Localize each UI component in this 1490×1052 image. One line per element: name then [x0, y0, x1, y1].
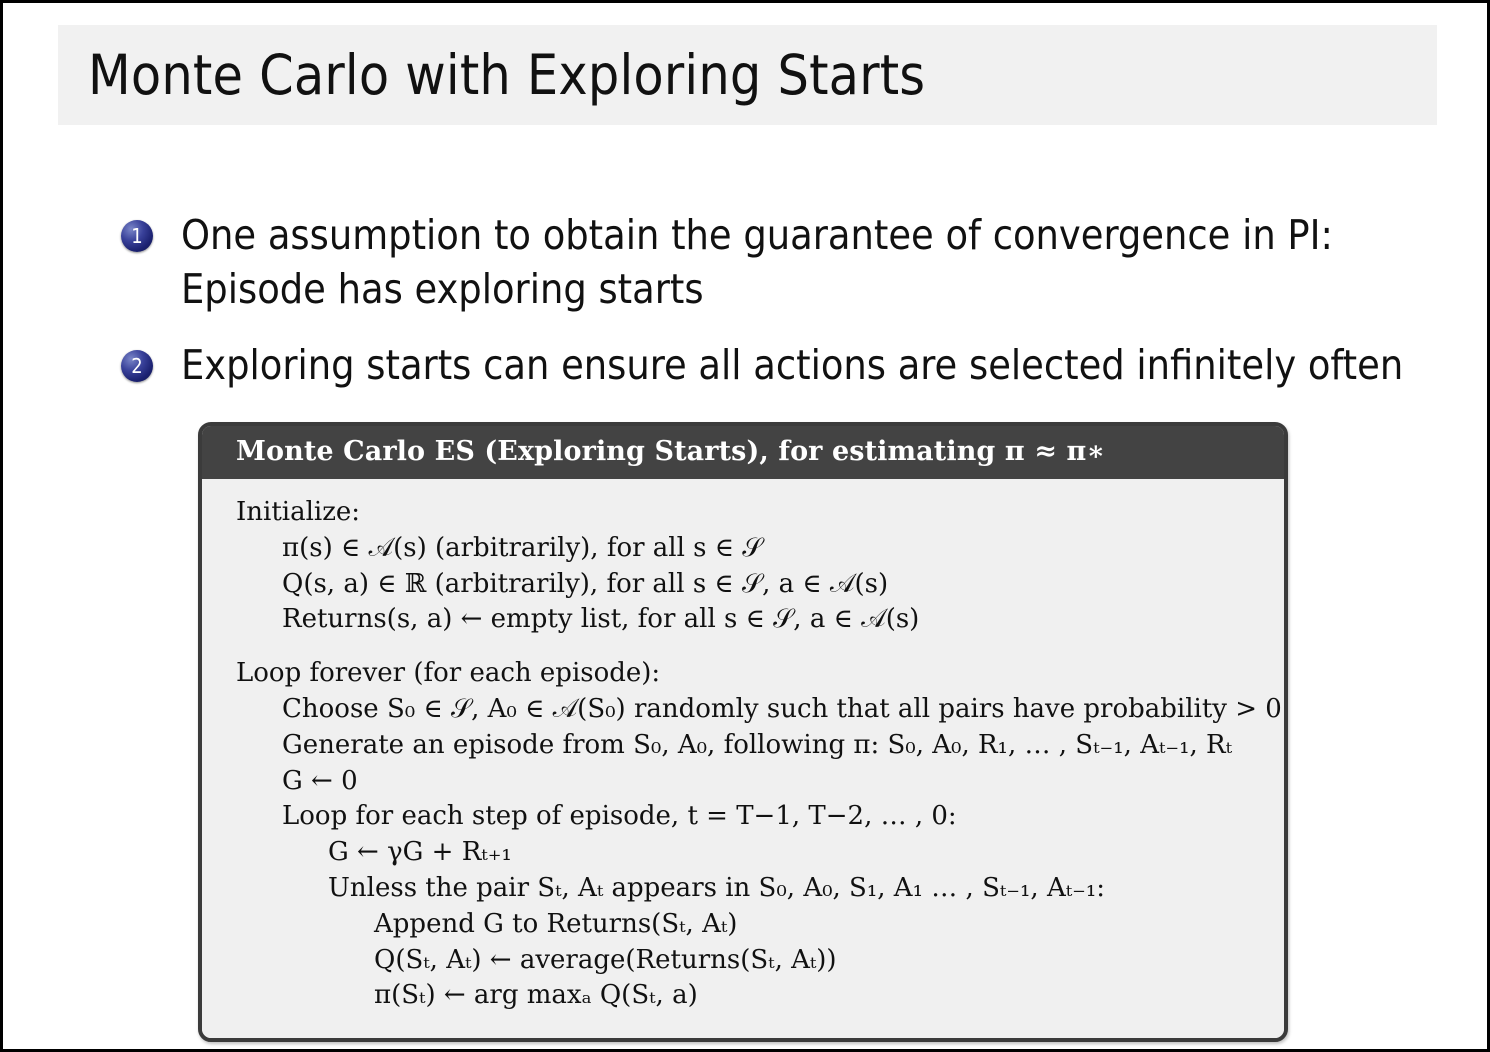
pseudocode-spacer	[202, 638, 1284, 656]
pseudocode-line: Returns(s, a) ← empty list, for all s ∈ …	[202, 602, 1284, 638]
title-band: Monte Carlo with Exploring Starts	[58, 25, 1437, 125]
pseudocode-line: G ← 0	[202, 764, 1284, 800]
pseudocode-line: Initialize:	[202, 495, 1284, 531]
pseudocode-line: G ← γG + Rₜ₊₁	[202, 835, 1284, 871]
algorithm-pseudocode: Initialize: π(s) ∈ 𝒜(s) (arbitrarily), f…	[202, 479, 1284, 1038]
pseudocode-line: Q(Sₜ, Aₜ) ← average(Returns(Sₜ, Aₜ))	[202, 943, 1284, 979]
bullet-number-badge: 1	[121, 220, 153, 252]
bullet-number-badge: 2	[121, 350, 153, 382]
pseudocode-line: Choose S₀ ∈ 𝒮, A₀ ∈ 𝒜(S₀) randomly such …	[202, 692, 1284, 728]
list-item: 1 One assumption to obtain the guarantee…	[121, 208, 1411, 316]
pseudocode-line: Append G to Returns(Sₜ, Aₜ)	[202, 907, 1284, 943]
pseudocode-line: Generate an episode from S₀, A₀, followi…	[202, 728, 1284, 764]
pseudocode-line: π(s) ∈ 𝒜(s) (arbitrarily), for all s ∈ 𝒮	[202, 531, 1284, 567]
pseudocode-line: π(Sₜ) ← arg maxₐ Q(Sₜ, a)	[202, 978, 1284, 1014]
pseudocode-line: Unless the pair Sₜ, Aₜ appears in S₀, A₀…	[202, 871, 1284, 907]
pseudocode-line: Loop for each step of episode, t = T−1, …	[202, 799, 1284, 835]
algorithm-box: Monte Carlo ES (Exploring Starts), for e…	[198, 422, 1288, 1042]
list-item: 2 Exploring starts can ensure all action…	[121, 338, 1411, 392]
bullet-text: Exploring starts can ensure all actions …	[181, 338, 1403, 392]
page-title: Monte Carlo with Exploring Starts	[88, 43, 925, 107]
bullet-list: 1 One assumption to obtain the guarantee…	[121, 208, 1411, 414]
algorithm-title: Monte Carlo ES (Exploring Starts), for e…	[202, 426, 1284, 479]
slide: Monte Carlo with Exploring Starts 1 One …	[0, 0, 1490, 1052]
pseudocode-line: Q(s, a) ∈ ℝ (arbitrarily), for all s ∈ 𝒮…	[202, 567, 1284, 603]
pseudocode-line: Loop forever (for each episode):	[202, 656, 1284, 692]
bullet-text: One assumption to obtain the guarantee o…	[181, 208, 1411, 316]
